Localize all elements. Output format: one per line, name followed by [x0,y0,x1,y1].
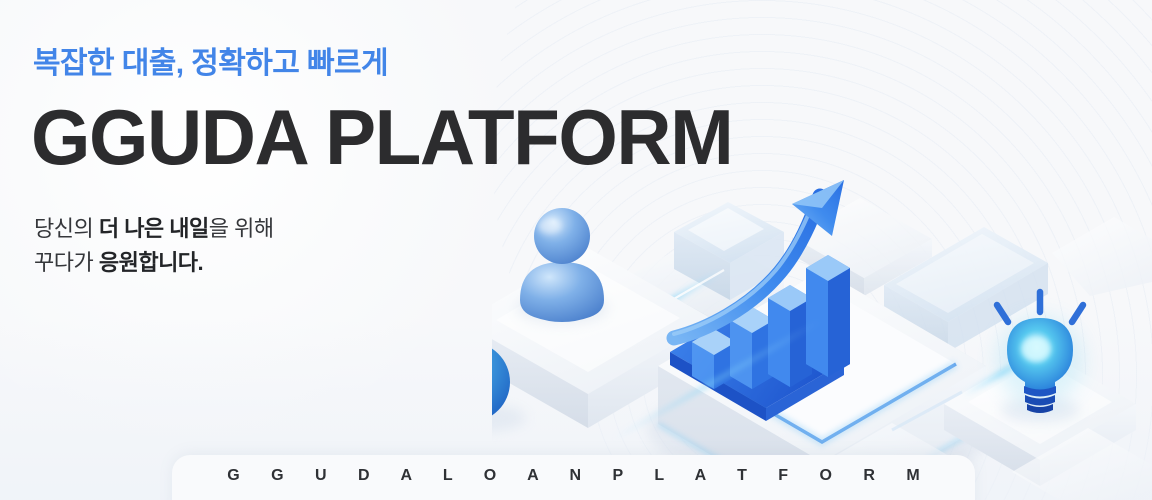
glow-connector [668,300,704,321]
bottom-brand-text: G G U D A L O A N P L A T F O R M [214,467,933,485]
hero-subcopy-line-2: 꾸다가 응원합니다. [34,246,274,280]
glass-bar-right [884,227,1048,352]
platform-tile [492,248,714,428]
bottom-brand-card: G G U D A L O A N P L A T F O R M [172,455,975,500]
glow-connector [620,270,724,330]
hero-banner: 복잡한 대출, 정확하고 빠르게 GGUDA PLATFORM 당신의 더 나은… [0,0,1152,500]
glass-block [674,202,784,300]
platform-tile [1012,428,1152,500]
subcopy-line1-strong: 더 나은 내일 [99,216,209,241]
speech-bubble-icon [492,342,526,432]
chart-bar-4 [806,255,850,377]
subcopy-line2-strong: 응원합니다. [99,250,203,275]
user-avatar-icon [516,208,608,324]
growth-arrow-icon [674,180,844,338]
chart-bar-3 [768,285,812,387]
platform-tile [792,198,932,296]
background-ring-pattern [492,0,1152,500]
hero-subcopy: 당신의 더 나은 내일을 위해 꾸다가 응원합니다. [34,212,274,280]
glow-connector [892,344,1052,430]
platform-tile [1052,217,1152,296]
chart-bar-2 [730,307,774,389]
subcopy-line1-tail: 을 위해 [209,216,274,241]
lightbulb-icon [996,292,1084,423]
isometric-platform-illustration [492,0,1152,500]
lightbulb-rays [997,292,1083,322]
subcopy-line2-lead: 꾸다가 [34,250,99,275]
subcopy-line1-lead: 당신의 [34,216,99,241]
platform-tile [632,234,784,338]
bar-chart-growth-icon [670,180,850,421]
lightbulb-base [1024,386,1056,413]
chart-bar-1 [692,329,736,389]
hero-subcopy-line-1: 당신의 더 나은 내일을 위해 [34,212,274,246]
hero-eyebrow: 복잡한 대출, 정확하고 빠르게 [33,38,388,82]
glow-streak [612,320,822,440]
page-title: GGUDA PLATFORM [31,98,732,176]
